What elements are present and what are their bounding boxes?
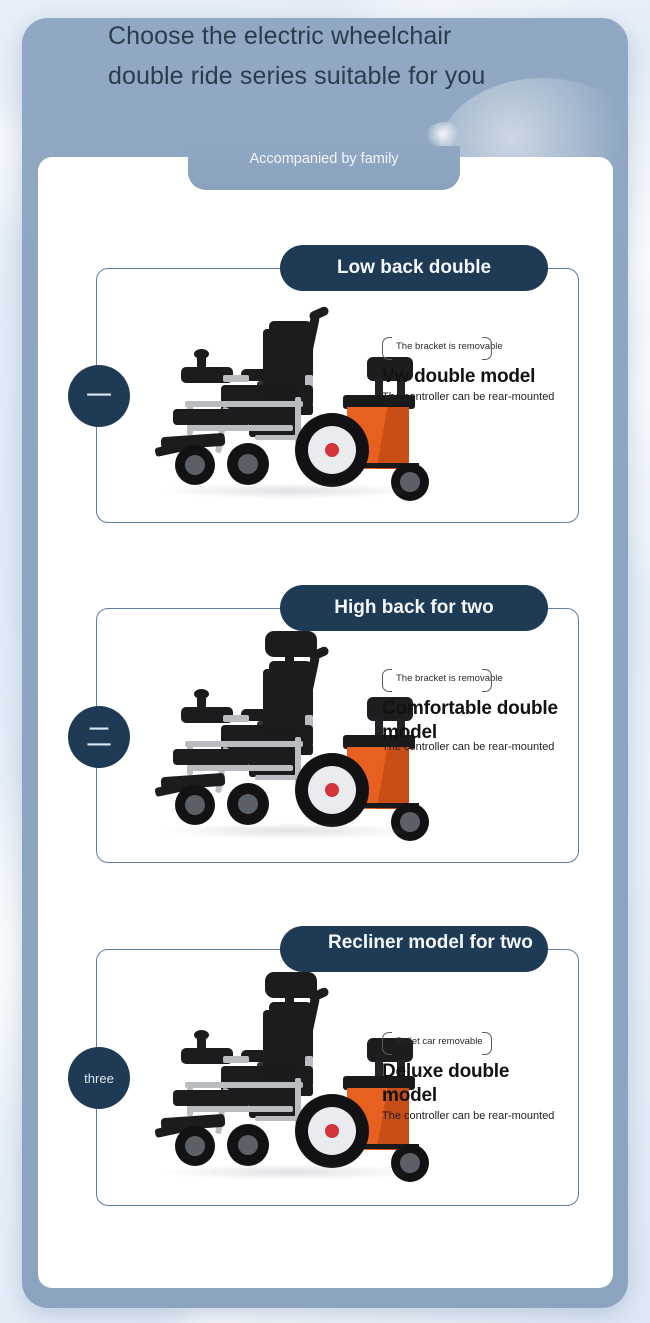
- joystick-knob: [194, 349, 209, 359]
- mid-wheel: [227, 1124, 269, 1166]
- armrest: [241, 709, 313, 721]
- front-caster-wheel: [175, 785, 215, 825]
- controller-arm: [223, 375, 249, 382]
- front-caster-wheel: [175, 1126, 215, 1166]
- footplate: [173, 409, 251, 425]
- product-card[interactable]: The bracket is removable Vw double model…: [96, 268, 579, 523]
- model-subtitle: The controller can be rear-mounted: [382, 390, 568, 405]
- step-number-label: 二: [86, 724, 112, 750]
- product-card[interactable]: Pallet car removable Deluxe double model…: [96, 949, 579, 1206]
- armrest: [241, 369, 313, 381]
- rear-wheel: [295, 753, 369, 827]
- step-number-three: three: [68, 1047, 130, 1109]
- bracket-note: The bracket is removable: [382, 337, 512, 358]
- frame-bar: [185, 1082, 303, 1088]
- battery-box: [249, 411, 295, 437]
- model-subtitle: The controller can be rear-mounted: [382, 1109, 568, 1124]
- photo-shadow: [162, 1164, 417, 1180]
- frame-bar: [189, 765, 293, 771]
- model-subtitle: The controller can be rear-mounted: [382, 740, 568, 755]
- joystick-knob: [194, 689, 209, 699]
- bracket-note: The bracket is removable: [382, 669, 512, 690]
- rear-wheel: [295, 1094, 369, 1168]
- controller-arm: [223, 1056, 249, 1063]
- footplate: [173, 749, 251, 765]
- photo-shadow: [162, 483, 417, 499]
- card-badge-low-back-double[interactable]: Low back double: [280, 245, 548, 291]
- armrest: [241, 1050, 313, 1062]
- step-number-one: 一: [68, 365, 130, 427]
- card-badge-label: High back for two: [280, 585, 548, 631]
- card-badge-label: Low back double: [280, 245, 548, 291]
- controller-arm: [223, 715, 249, 722]
- rear-wheel: [295, 413, 369, 487]
- card-badge-recliner-model-for-two[interactable]: Recliner model for two: [280, 926, 548, 972]
- battery-box: [249, 751, 295, 777]
- step-number-label: three: [84, 1072, 114, 1085]
- frame-bar: [189, 425, 293, 431]
- step-number-label: 一: [86, 383, 112, 409]
- bracket-note: Pallet car removable: [382, 1032, 512, 1053]
- card-badge-label: Recliner model for two: [280, 928, 548, 957]
- joystick-knob: [194, 1030, 209, 1040]
- frame-bar: [185, 741, 303, 747]
- product-card[interactable]: The bracket is removable Comfortable dou…: [96, 608, 579, 863]
- product-info: The bracket is removable Vw double model…: [382, 337, 568, 405]
- accompanied-by-family-tab: Accompanied by family: [188, 146, 460, 190]
- tab-label: Accompanied by family: [249, 151, 398, 167]
- page-title: Choose the electric wheelchair double ri…: [108, 16, 528, 96]
- page-root: Choose the electric wheelchair double ri…: [0, 0, 650, 1323]
- model-title: Vw double model: [382, 365, 568, 389]
- content-panel: 一 Low back double: [38, 157, 613, 1288]
- model-title: Comfortable double model: [382, 697, 568, 745]
- step-number-two: 二: [68, 706, 130, 768]
- battery-box: [249, 1092, 295, 1118]
- model-title: Deluxe double model: [382, 1060, 568, 1108]
- mid-wheel: [227, 783, 269, 825]
- product-info: The bracket is removable Comfortable dou…: [382, 669, 568, 755]
- mid-wheel: [227, 443, 269, 485]
- gloss-dot: [427, 122, 461, 148]
- card-badge-high-back-for-two[interactable]: High back for two: [280, 585, 548, 631]
- photo-shadow: [162, 823, 417, 839]
- footplate: [173, 1090, 251, 1106]
- frame-bar: [189, 1106, 293, 1112]
- frame-bar: [185, 401, 303, 407]
- product-info: Pallet car removable Deluxe double model…: [382, 1032, 568, 1124]
- front-caster-wheel: [175, 445, 215, 485]
